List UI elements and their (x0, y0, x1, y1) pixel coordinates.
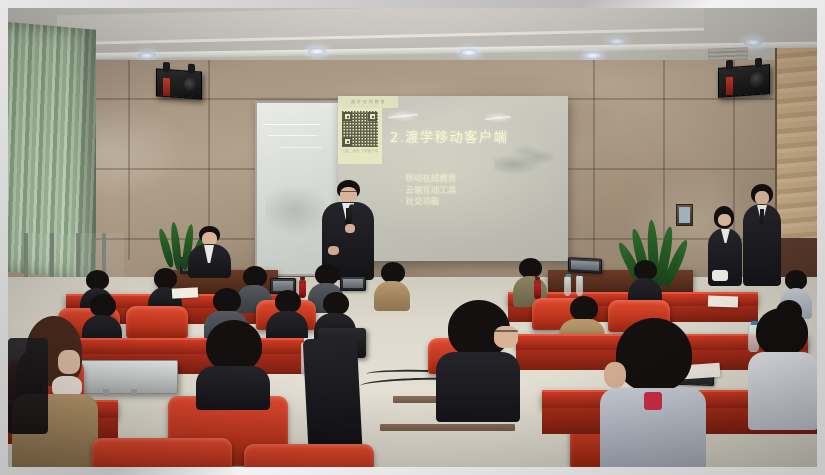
downlight-icon (308, 48, 326, 55)
laptop (340, 276, 366, 291)
slide-banner-text: 渡 学 在 线 教 育 (351, 99, 385, 105)
downlight-icon (608, 38, 626, 45)
staff-member-male (743, 184, 781, 292)
qr-code-panel: 扫描二维码 下载客户端 (338, 108, 382, 164)
downlight-icon (744, 39, 762, 46)
slide-banner: 渡 学 在 线 教 育 (338, 96, 398, 108)
qr-caption: 扫描二维码 下载客户端 (342, 149, 378, 154)
audience-member (748, 308, 817, 428)
draped-coat (8, 338, 48, 434)
presenter-hand (345, 224, 355, 233)
audience-member (266, 290, 308, 344)
audience-member (436, 300, 520, 420)
ceiling-speaker-left (156, 68, 202, 99)
photo-frame: 渡 学 在 线 教 育 2.渡学移动客户端 移动在线教育 云端互动工具 社交功能… (0, 0, 825, 475)
water-bottle (576, 275, 583, 296)
slide-bullet: 移动在线教育 (400, 174, 456, 186)
laptop (568, 257, 602, 274)
glasses-icon (494, 330, 518, 333)
paper-sheet (708, 295, 738, 307)
coke-bottle (534, 280, 541, 299)
conference-room-photo: 渡 学 在 线 教 育 2.渡学移动客户端 移动在线教育 云端互动工具 社交功能… (8, 8, 817, 467)
slide-bullet: 云端互动工具 (400, 186, 456, 198)
chair-back (126, 306, 188, 338)
floor-inlay-strip (380, 424, 515, 431)
paper-sheet (172, 287, 198, 298)
downlight-icon (584, 52, 602, 59)
glasses-icon (340, 191, 357, 194)
downlight-icon (138, 52, 156, 59)
chair-back (92, 438, 232, 467)
downlight-icon (460, 49, 478, 56)
crane-motif-icon (483, 112, 513, 123)
presenter-hand (328, 246, 339, 255)
audience-member (196, 320, 270, 406)
crane-motif-icon (386, 110, 420, 122)
audience-member (600, 318, 706, 467)
audience-member (374, 262, 410, 310)
ceiling-speaker-right (718, 64, 770, 98)
qr-code-icon (342, 111, 378, 147)
staff-gloved-hands (712, 270, 728, 281)
slide-bullet-list: 移动在线教育 云端互动工具 社交功能 (400, 174, 456, 209)
av-operator (186, 226, 232, 278)
water-bottle (564, 276, 571, 296)
slide-bullet: 社交功能 (400, 197, 456, 209)
staff-member-female (708, 206, 742, 292)
chair-back (244, 444, 374, 467)
